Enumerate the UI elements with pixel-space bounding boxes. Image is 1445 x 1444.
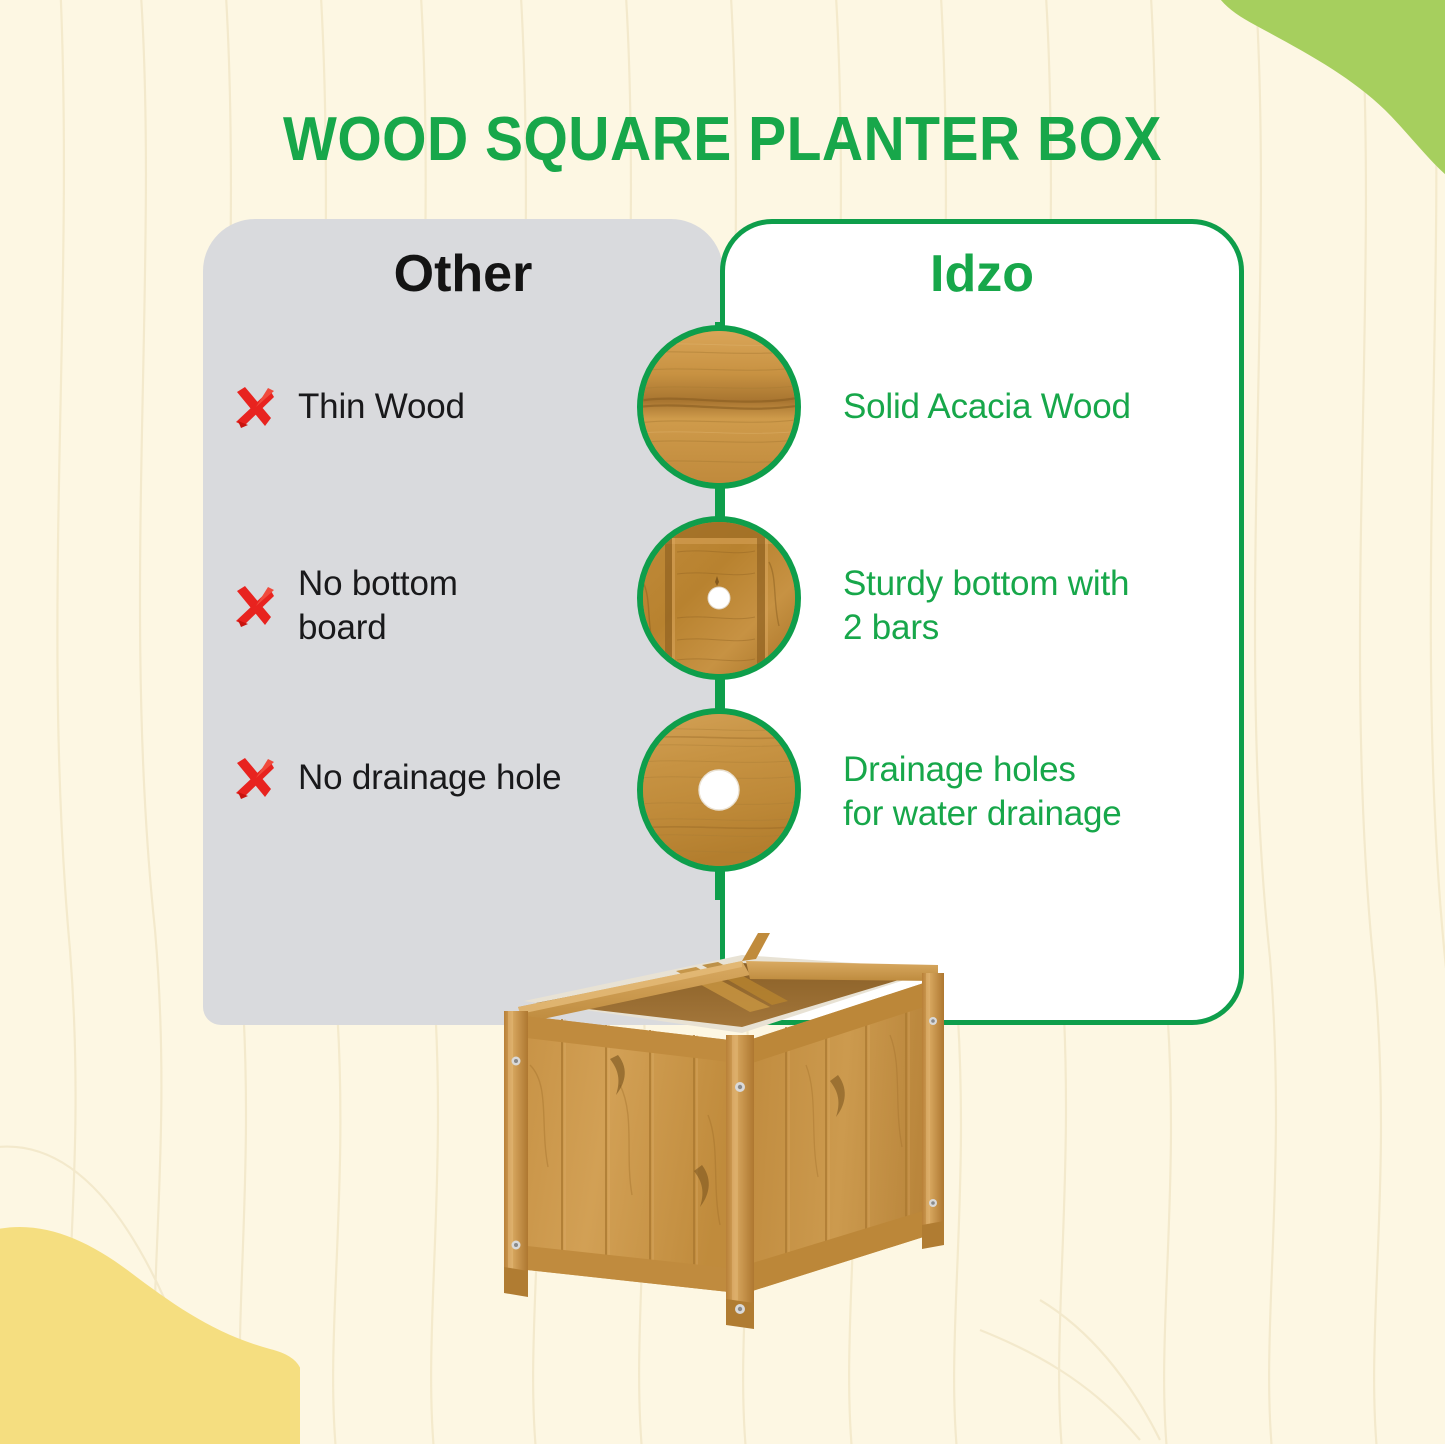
infographic-page: WOOD SQUARE PLANTER BOX Other Idzo Thin …: [0, 0, 1445, 1444]
idzo-row-1-text: Solid Acacia Wood: [843, 385, 1233, 429]
decorative-yellow-blob-bottom-left: [0, 1194, 300, 1444]
other-row-1-text: Thin Wood: [298, 385, 465, 429]
other-row-3: No drainage hole: [232, 756, 702, 800]
other-row-3-text: No drainage hole: [298, 756, 561, 800]
column-header-other: Other: [203, 243, 723, 305]
thumbnail-bottom-board-with-bars: [637, 516, 801, 680]
x-mark-icon: [232, 385, 276, 429]
other-row-2-text: No bottom board: [298, 562, 458, 650]
idzo-row-3: Drainage holes for water drainage: [843, 748, 1233, 836]
idzo-row-3-line1: Drainage holes: [843, 748, 1233, 792]
idzo-row-2: Sturdy bottom with 2 bars: [843, 562, 1233, 650]
x-mark-icon: [232, 584, 276, 628]
idzo-row-3-line2: for water drainage: [843, 792, 1233, 836]
other-row-2-line1: No bottom: [298, 562, 458, 606]
idzo-row-2-line2: 2 bars: [843, 606, 1233, 650]
product-image-planter-box: [470, 915, 960, 1345]
idzo-row-1: Solid Acacia Wood: [843, 385, 1233, 429]
other-row-2: No bottom board: [232, 562, 702, 650]
page-title: WOOD SQUARE PLANTER BOX: [58, 104, 1387, 176]
thumbnail-wood-grain-closeup: [637, 325, 801, 489]
other-row-1: Thin Wood: [232, 385, 702, 429]
thumbnail-drainage-hole-closeup: [637, 708, 801, 872]
other-row-2-line2: board: [298, 606, 458, 650]
idzo-row-2-line1: Sturdy bottom with: [843, 562, 1233, 606]
column-header-idzo: Idzo: [720, 243, 1244, 305]
x-mark-icon: [232, 756, 276, 800]
